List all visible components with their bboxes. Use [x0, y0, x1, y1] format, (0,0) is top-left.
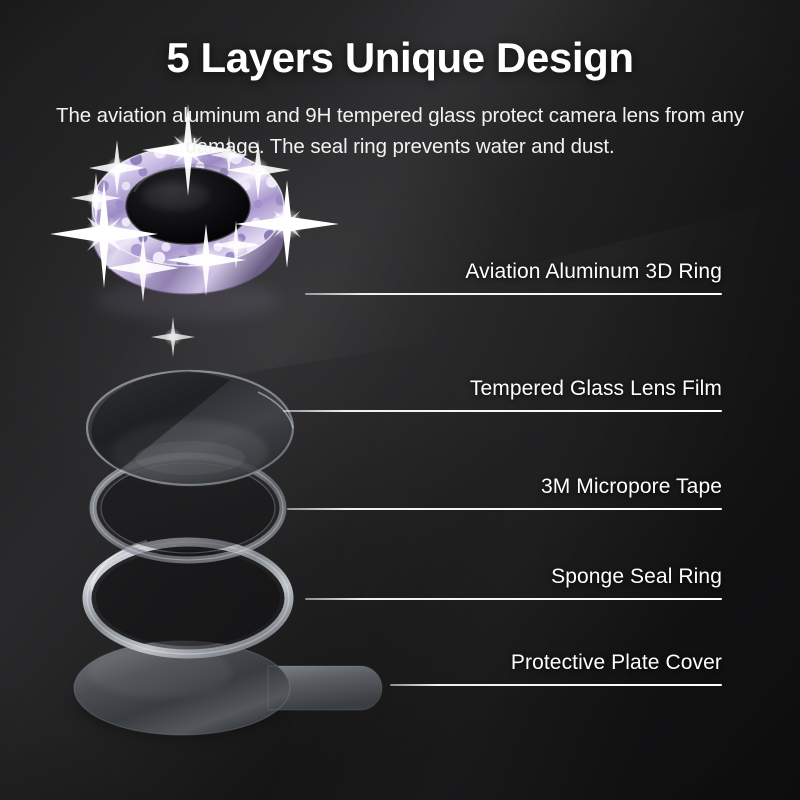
product-infographic: 5 Layers Unique Design The aviation alum…: [0, 0, 800, 800]
callout-5: Protective Plate Cover: [0, 0, 800, 800]
leader-line-5: [390, 684, 722, 686]
callout-label-5: Protective Plate Cover: [511, 651, 722, 675]
